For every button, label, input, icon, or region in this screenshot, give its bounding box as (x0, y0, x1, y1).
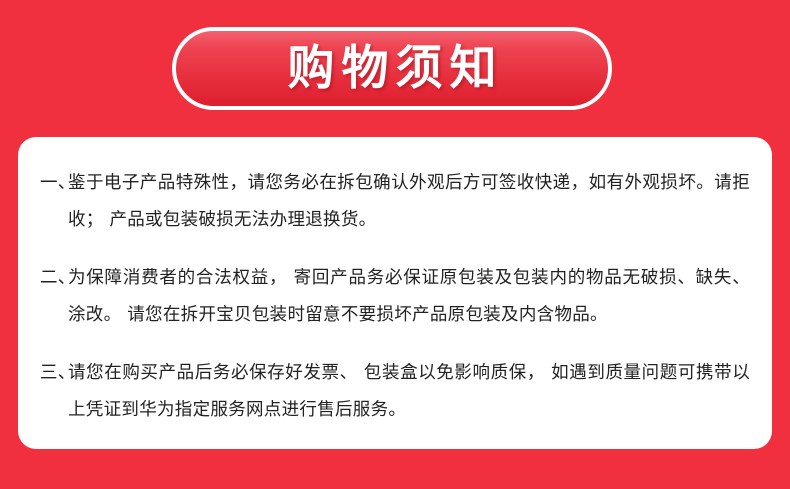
notice-item-3: 三、 请您在购买产品后务必保存好发票、 包装盒以免影响质保， 如遇到质量问题可携… (40, 355, 750, 429)
notice-marker-2: 二、 (40, 260, 76, 297)
notice-text-1: 鉴于电子产品特殊性，请您务必在拆包确认外观后方可签收快递，如有外观损坏。请拒收；… (68, 173, 750, 230)
title-banner: 购物须知 (172, 27, 612, 110)
banner-title-text: 购物须知 (281, 45, 504, 92)
notice-text-3: 请您在购买产品后务必保存好发票、 包装盒以免影响质保， 如遇到质量问题可携带以上… (68, 363, 750, 420)
notice-text-2: 为保障消费者的合法权益， 寄回产品务必保证原包装及包装内的物品无破损、缺失、 涂… (68, 268, 750, 325)
notice-item-1: 一、 鉴于电子产品特殊性，请您务必在拆包确认外观后方可签收快递，如有外观损坏。请… (40, 165, 750, 239)
notice-marker-3: 三、 (40, 355, 76, 392)
notice-item-2: 二、 为保障消费者的合法权益， 寄回产品务必保证原包装及包装内的物品无破损、缺失… (40, 260, 750, 334)
shopping-notice-banner: 购物须知 一、 鉴于电子产品特殊性，请您务必在拆包确认外观后方可签收快递，如有外… (0, 0, 790, 489)
notice-marker-1: 一、 (40, 165, 76, 202)
notice-card: 一、 鉴于电子产品特殊性，请您务必在拆包确认外观后方可签收快递，如有外观损坏。请… (18, 137, 772, 449)
